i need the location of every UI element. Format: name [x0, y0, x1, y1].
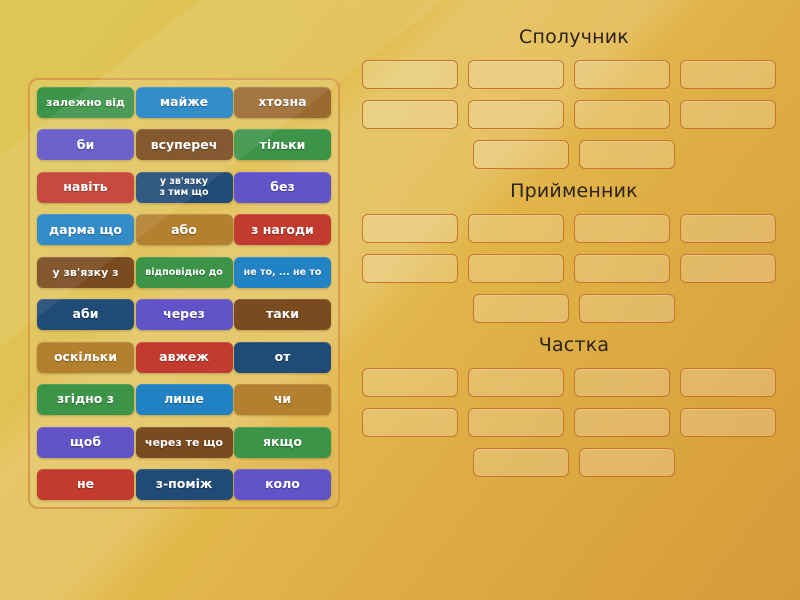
tile-row: нез-поміжколо: [37, 469, 331, 500]
word-tile[interactable]: всупереч: [136, 129, 233, 160]
drop-slot[interactable]: [680, 100, 776, 129]
drop-slot-row: [362, 254, 786, 283]
tile-row: навітьу зв'язку з тим щобез: [37, 172, 331, 203]
drop-slot[interactable]: [468, 100, 564, 129]
drop-slot[interactable]: [362, 368, 458, 397]
drop-slot[interactable]: [680, 408, 776, 437]
category-groups: СполучникПрийменникЧастка: [362, 26, 786, 488]
drop-slot[interactable]: [362, 60, 458, 89]
drop-slot[interactable]: [579, 448, 675, 477]
drop-slot-row: [362, 214, 786, 243]
tile-row: абичерезтаки: [37, 299, 331, 330]
word-tile[interactable]: таки: [234, 299, 331, 330]
word-tile[interactable]: би: [37, 129, 134, 160]
drop-slot[interactable]: [574, 100, 670, 129]
word-tile[interactable]: або: [136, 214, 233, 245]
word-tile[interactable]: через те що: [136, 427, 233, 458]
drop-slot[interactable]: [574, 60, 670, 89]
tile-row: у зв'язку звідповідно доне то, ... не то: [37, 257, 331, 288]
word-tile[interactable]: з нагоди: [234, 214, 331, 245]
drop-slot[interactable]: [680, 214, 776, 243]
drop-slot[interactable]: [473, 448, 569, 477]
drop-slot[interactable]: [468, 254, 564, 283]
drop-slot-row: [362, 140, 786, 169]
word-tile[interactable]: не то, ... не то: [234, 257, 331, 288]
drop-slot[interactable]: [362, 100, 458, 129]
category-group: Частка: [362, 334, 786, 477]
drop-slot-row: [362, 368, 786, 397]
category-title: Частка: [362, 334, 786, 356]
drop-slot-row: [362, 294, 786, 323]
drop-slot[interactable]: [680, 368, 776, 397]
word-tile[interactable]: якщо: [234, 427, 331, 458]
drop-slot[interactable]: [574, 408, 670, 437]
word-tile[interactable]: майже: [136, 87, 233, 118]
drop-slot[interactable]: [468, 60, 564, 89]
word-tile[interactable]: тільки: [234, 129, 331, 160]
category-title: Прийменник: [362, 180, 786, 202]
word-tile[interactable]: залежно від: [37, 87, 134, 118]
word-tile[interactable]: згідно з: [37, 384, 134, 415]
word-tile[interactable]: у зв'язку з: [37, 257, 134, 288]
drop-slot-row: [362, 60, 786, 89]
word-tile[interactable]: навіть: [37, 172, 134, 203]
drop-slot-row: [362, 100, 786, 129]
drop-slot[interactable]: [574, 254, 670, 283]
tile-row: бивсуперечтільки: [37, 129, 331, 160]
drop-slot[interactable]: [362, 408, 458, 437]
tile-row: щобчерез те щоякщо: [37, 427, 331, 458]
drop-slot[interactable]: [579, 294, 675, 323]
word-tile[interactable]: у зв'язку з тим що: [136, 172, 233, 203]
category-group: Сполучник: [362, 26, 786, 169]
drop-slot[interactable]: [579, 140, 675, 169]
drop-slot[interactable]: [473, 294, 569, 323]
word-tile[interactable]: лише: [136, 384, 233, 415]
word-tile[interactable]: щоб: [37, 427, 134, 458]
tile-row: залежно відмайжехтозна: [37, 87, 331, 118]
drop-slot-row: [362, 448, 786, 477]
drop-slot[interactable]: [468, 368, 564, 397]
word-tile[interactable]: відповідно до: [136, 257, 233, 288]
word-tile[interactable]: не: [37, 469, 134, 500]
word-tile[interactable]: от: [234, 342, 331, 373]
drop-slot[interactable]: [362, 214, 458, 243]
drop-slot[interactable]: [574, 368, 670, 397]
drop-slot[interactable]: [468, 408, 564, 437]
activity-stage: залежно відмайжехтознабивсуперечтількина…: [0, 0, 800, 600]
word-tile[interactable]: через: [136, 299, 233, 330]
drop-slot[interactable]: [680, 254, 776, 283]
word-tile[interactable]: без: [234, 172, 331, 203]
drop-slot[interactable]: [473, 140, 569, 169]
category-title: Сполучник: [362, 26, 786, 48]
tile-row: згідно злишечи: [37, 384, 331, 415]
drop-slot[interactable]: [468, 214, 564, 243]
drop-slot[interactable]: [362, 254, 458, 283]
word-tile[interactable]: коло: [234, 469, 331, 500]
drop-slot-row: [362, 408, 786, 437]
drop-slot[interactable]: [574, 214, 670, 243]
tile-row: оскількиавжежот: [37, 342, 331, 373]
drop-slot[interactable]: [680, 60, 776, 89]
word-tile[interactable]: чи: [234, 384, 331, 415]
word-tile[interactable]: дарма що: [37, 214, 134, 245]
category-group: Прийменник: [362, 180, 786, 323]
word-tile[interactable]: аби: [37, 299, 134, 330]
word-tile[interactable]: хтозна: [234, 87, 331, 118]
word-tile[interactable]: з-поміж: [136, 469, 233, 500]
tile-row: дарма щоабоз нагоди: [37, 214, 331, 245]
word-tile[interactable]: авжеж: [136, 342, 233, 373]
word-tile[interactable]: оскільки: [37, 342, 134, 373]
word-tile-panel: залежно відмайжехтознабивсуперечтількина…: [28, 78, 340, 509]
